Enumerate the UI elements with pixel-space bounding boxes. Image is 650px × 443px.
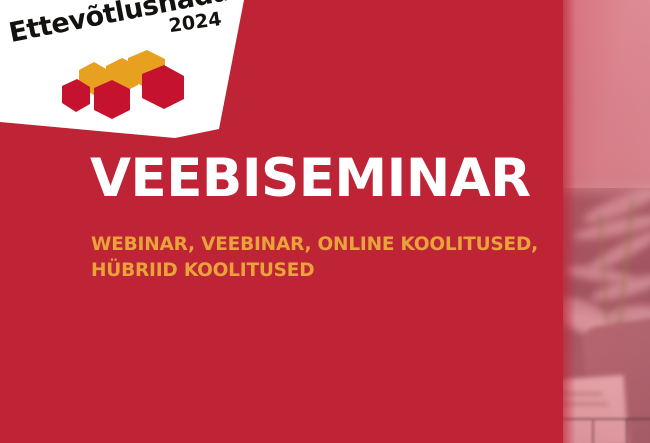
background-photo xyxy=(550,0,650,443)
headline-text: VEEBISEMINAR xyxy=(90,152,560,205)
red-hex-mid xyxy=(94,80,130,119)
orange-hex-right xyxy=(128,50,165,88)
red-hex-right xyxy=(142,65,184,109)
orange-hex-left xyxy=(79,62,108,95)
subtitle-line-1: WEBINAR, VEEBINAR, ONLINE KOOLITUSED, xyxy=(91,232,591,258)
logo-banner: Ettevõtlusnädal 2024 xyxy=(0,0,250,145)
page-title: VEEBISEMINAR xyxy=(90,152,560,205)
subtitle-line-2: HÜBRIID KOOLITUSED xyxy=(91,258,591,284)
logo-wordmark: Ettevõtlusnädal 2024 xyxy=(7,0,241,47)
webinar-promo-banner: Ettevõtlusnädal 2024 VEEBISEMINAR WEBINA… xyxy=(0,0,650,443)
red-hex-left xyxy=(62,79,90,112)
orange-hex-mid xyxy=(106,58,138,93)
subtitle: WEBINAR, VEEBINAR, ONLINE KOOLITUSED, HÜ… xyxy=(91,232,591,285)
